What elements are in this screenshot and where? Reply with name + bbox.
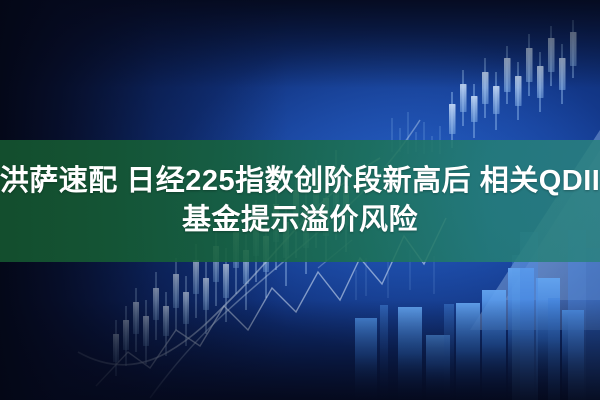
poster-canvas: 洪萨速配 日经225指数创阶段新高后 相关QDII 基金提示溢价风险 (0, 0, 600, 400)
headline-line-2: 基金提示溢价风险 (182, 202, 418, 239)
headline-block: 洪萨速配 日经225指数创阶段新高后 相关QDII 基金提示溢价风险 (0, 140, 600, 262)
headline-line-1: 洪萨速配 日经225指数创阶段新高后 相关QDII (0, 163, 600, 200)
